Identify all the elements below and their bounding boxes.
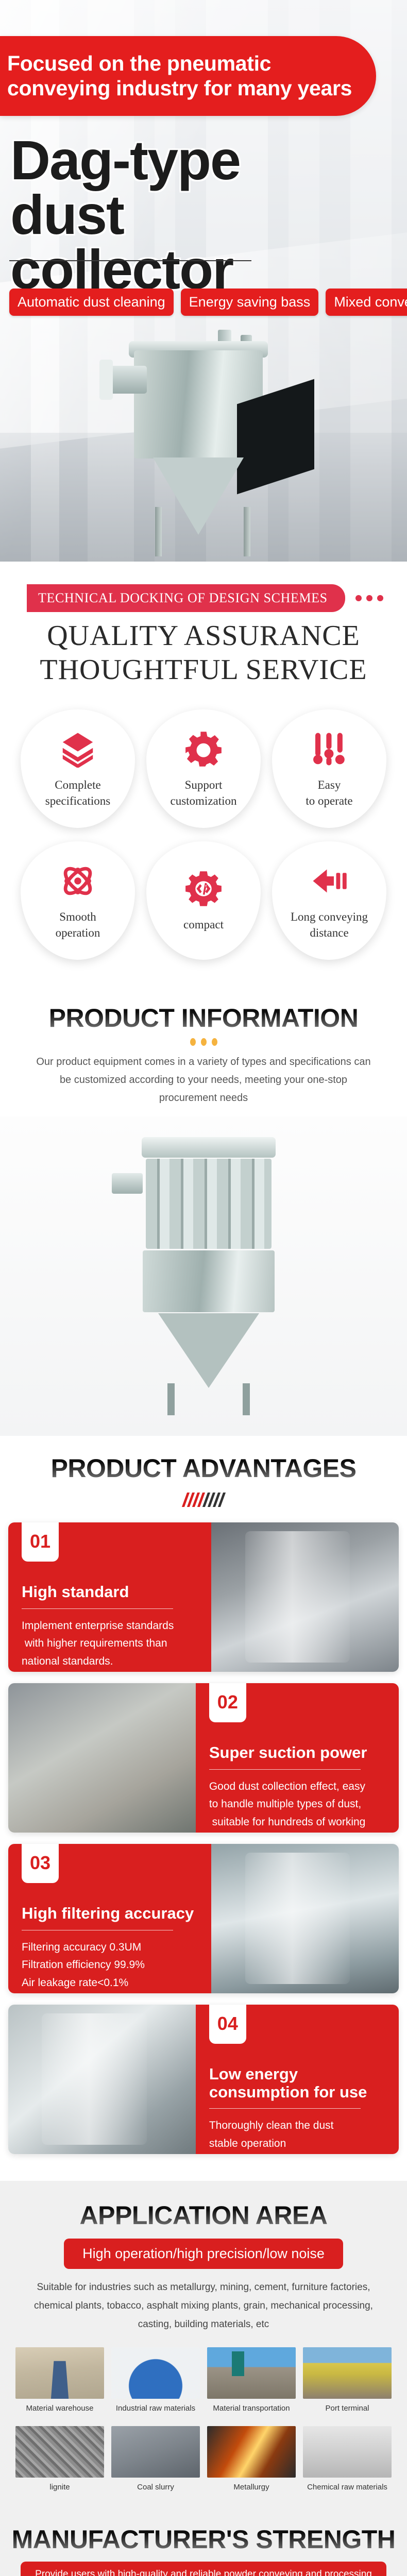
product-advantages-title: PRODUCT ADVANTAGES — [51, 1453, 357, 1483]
hero-product-image — [106, 330, 322, 556]
application-label-3: Port terminal — [303, 2404, 392, 2413]
application-area-title: APPLICATION AREA — [80, 2200, 328, 2230]
advantage-photo-03 — [211, 1844, 399, 1993]
advantage-divider-01 — [22, 1608, 173, 1609]
advantage-text-pane-03: 03 High filtering accuracy Filtering acc… — [8, 1844, 211, 1993]
application-thumb-1 — [111, 2347, 200, 2399]
service-card-smooth-operation[interactable]: Smooth operation — [21, 841, 135, 960]
slash-decoration — [5, 1493, 402, 1507]
product-advantages-section: PRODUCT ADVANTAGES 01 High standard Impl… — [0, 1436, 407, 2181]
application-item-1[interactable]: Industrial raw materials — [111, 2347, 200, 2421]
application-item-2[interactable]: Material transportation — [207, 2347, 296, 2421]
application-thumb-6 — [207, 2426, 296, 2478]
service-card-long-conveying-distance[interactable]: Long conveying distance — [272, 841, 386, 960]
gear-icon — [185, 731, 222, 768]
manufacturer-strength-section: MANUFACTURER'S STRENGTH Provide users wi… — [0, 2517, 407, 2576]
advantage-divider-03 — [22, 1930, 173, 1930]
hero-ribbon-text: Focused on the pneumatic conveying indus… — [7, 52, 363, 101]
application-thumb-5 — [111, 2426, 200, 2478]
advantage-description-02: Good dust collection effect, easy to han… — [209, 1778, 385, 1833]
manufacturer-strength-title: MANUFACTURER'S STRENGTH — [12, 2524, 396, 2554]
advantage-number-01: 01 — [22, 1522, 59, 1562]
quality-pill-row: TECHNICAL DOCKING OF DESIGN SCHEMES — [12, 584, 395, 612]
yellow-dots-decoration — [5, 1038, 402, 1046]
advantage-description-01: Implement enterprise standards with high… — [22, 1617, 198, 1671]
product-information-section: PRODUCT INFORMATION Our product equipmen… — [0, 986, 407, 1436]
application-label-4: lignite — [15, 2483, 104, 2492]
product-information-title: PRODUCT INFORMATION — [49, 1003, 359, 1033]
service-label-1: Support customization — [170, 777, 236, 809]
product-information-header: PRODUCT INFORMATION Our product equipmen… — [0, 986, 407, 1109]
advantage-title-02: Super suction power — [209, 1744, 385, 1762]
service-label-2: Easy to operate — [306, 777, 352, 809]
application-area-section: APPLICATION AREA High operation/high pre… — [0, 2181, 407, 2517]
application-label-6: Metallurgy — [207, 2483, 296, 2492]
advantage-photo-04 — [8, 2005, 196, 2154]
advantage-title-04: Low energy consumption for use — [209, 2065, 385, 2101]
advantage-divider-02 — [209, 1769, 361, 1770]
advantage-card-01: 01 High standard Implement enterprise st… — [8, 1522, 399, 1672]
advantage-number-04: 04 — [209, 2005, 246, 2044]
hero-ribbon: Focused on the pneumatic conveying indus… — [0, 36, 376, 116]
layers-icon — [59, 731, 96, 768]
sliders-icon — [311, 731, 348, 768]
application-label-0: Material warehouse — [15, 2404, 104, 2413]
application-thumb-3 — [303, 2347, 392, 2399]
service-label-3: Smooth operation — [56, 909, 100, 941]
advantage-card-list: 01 High standard Implement enterprise st… — [0, 1522, 407, 2181]
page-title: Dag-type dust collector — [10, 133, 319, 296]
advantage-title-03: High filtering accuracy — [22, 1905, 198, 1923]
advantage-card-02: 02 Super suction power Good dust collect… — [8, 1683, 399, 1833]
advantage-text-pane-04: 04 Low energy consumption for use Thorou… — [196, 2005, 399, 2154]
red-dots-decoration — [355, 595, 383, 601]
application-area-description: Suitable for industries such as metallur… — [18, 2278, 389, 2334]
application-thumb-4 — [15, 2426, 104, 2478]
manufacturer-strength-pill: Provide users with high-quality and reli… — [21, 2562, 386, 2576]
hero-tag-1[interactable]: Energy saving bass — [181, 289, 319, 316]
application-item-5[interactable]: Coal slurry — [111, 2426, 200, 2500]
atom-icon — [59, 862, 96, 900]
application-area-pill: High operation/high precision/low noise — [64, 2239, 343, 2269]
service-label-5: Long conveying distance — [291, 909, 368, 941]
application-item-0[interactable]: Material warehouse — [15, 2347, 104, 2421]
advantage-number-03: 03 — [22, 1844, 59, 1883]
advantage-text-pane-01: 01 High standard Implement enterprise st… — [8, 1522, 211, 1672]
advantage-photo-01 — [211, 1522, 399, 1672]
application-thumbnail-grid: Material warehouse Industrial raw materi… — [0, 2347, 407, 2500]
advantage-description-04: Thoroughly clean the dust stable operati… — [209, 2117, 385, 2154]
advantage-description-03: Filtering accuracy 0.3UM Filtration effi… — [22, 1939, 198, 1992]
application-thumb-0 — [15, 2347, 104, 2399]
application-label-1: Industrial raw materials — [111, 2404, 200, 2413]
advantage-divider-04 — [209, 2108, 361, 2109]
advantage-card-03: 03 High filtering accuracy Filtering acc… — [8, 1844, 399, 1993]
application-item-3[interactable]: Port terminal — [303, 2347, 392, 2421]
application-label-7: Chemical raw materials — [303, 2483, 392, 2492]
quality-heading-line2: THOUGHTFUL SERVICE — [12, 653, 395, 686]
service-card-complete-specifications[interactable]: Complete specifications — [21, 709, 135, 828]
service-card-support-customization[interactable]: Support customization — [146, 709, 261, 828]
gear-code-icon — [185, 870, 222, 907]
hero-tag-0[interactable]: Automatic dust cleaning — [9, 289, 174, 316]
product-information-description: Our product equipment comes in a variety… — [23, 1053, 384, 1107]
service-card-easy-to-operate[interactable]: Easy to operate — [272, 709, 386, 828]
service-card-compact[interactable]: compact — [146, 841, 261, 960]
advantage-card-04: 04 Low energy consumption for use Thorou… — [8, 2005, 399, 2154]
advantage-title-01: High standard — [22, 1583, 198, 1601]
hero-banner: Focused on the pneumatic conveying indus… — [0, 0, 407, 562]
application-thumb-2 — [207, 2347, 296, 2399]
application-item-7[interactable]: Chemical raw materials — [303, 2426, 392, 2500]
application-label-2: Material transportation — [207, 2404, 296, 2413]
service-label-4: compact — [183, 917, 224, 933]
application-item-4[interactable]: lignite — [15, 2426, 104, 2500]
application-item-6[interactable]: Metallurgy — [207, 2426, 296, 2500]
product-advantages-header: PRODUCT ADVANTAGES — [0, 1436, 407, 1522]
advantage-number-02: 02 — [209, 1683, 246, 1722]
product-information-image — [0, 1116, 407, 1436]
arrow-left-icon — [311, 862, 348, 900]
title-divider — [9, 260, 251, 261]
advantage-text-pane-02: 02 Super suction power Good dust collect… — [196, 1683, 399, 1833]
application-thumb-7 — [303, 2426, 392, 2478]
service-label-0: Complete specifications — [45, 777, 110, 809]
service-feature-grid: Complete specifications Support customiz… — [0, 692, 407, 986]
advantage-photo-02 — [8, 1683, 196, 1833]
application-label-5: Coal slurry — [111, 2483, 200, 2492]
hero-tag-2[interactable]: Mixed conveying — [326, 289, 407, 316]
quality-heading-line1: QUALITY ASSURANCE — [12, 619, 395, 652]
technical-docking-pill: TECHNICAL DOCKING OF DESIGN SCHEMES — [27, 584, 345, 612]
hero-tag-list: Automatic dust cleaning Energy saving ba… — [9, 289, 407, 316]
quality-assurance-section: TECHNICAL DOCKING OF DESIGN SCHEMES QUAL… — [0, 562, 407, 692]
